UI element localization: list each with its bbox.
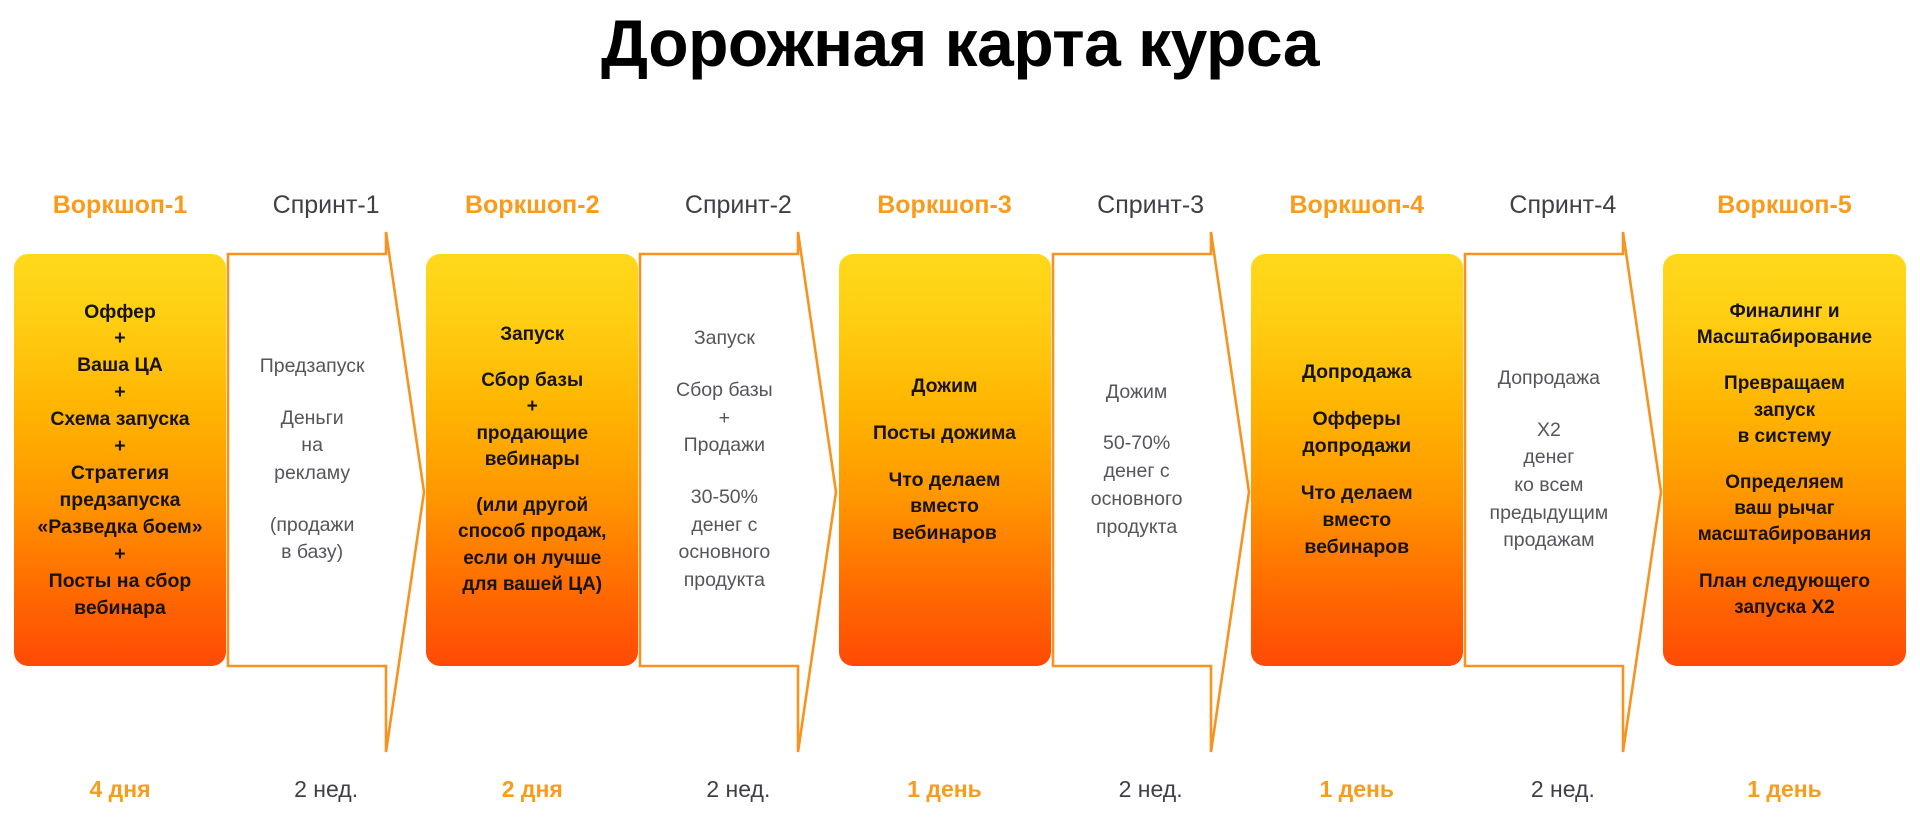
stage-column-sprint-2: Спринт-2 Запуск Сбор базы + Продажи 30-5… [638, 178, 838, 828]
stage-header-workshop-5: Воркшоп-5 [1717, 178, 1852, 232]
card-text-block: Превращаем запуск в систему [1724, 371, 1845, 450]
card-text-block: Что делаем вместо вебинаров [889, 467, 1001, 548]
duration-workshop-1: 4 дня [89, 752, 150, 826]
stage-body-sprint-4: Допродажа X2 денег ко всем предыдущим пр… [1463, 232, 1663, 752]
stage-body-sprint-3: Дожим 50-70% денег с основного продукта [1051, 232, 1251, 752]
stage-body-workshop-4: Допродажа Офферы допродажи Что делаем вм… [1251, 232, 1463, 752]
stage-column-sprint-1: Спринт-1 Предзапуск Деньги на рекламу (п… [226, 178, 426, 828]
stage-header-sprint-2: Спринт-2 [685, 178, 792, 232]
stage-header-sprint-4: Спринт-4 [1509, 178, 1616, 232]
sprint-arrow-3[interactable]: Дожим 50-70% денег с основного продукта [1051, 232, 1251, 752]
arrow-text-block: Предзапуск [260, 353, 365, 381]
card-text-block: Запуск [500, 322, 564, 348]
stage-header-sprint-3: Спринт-3 [1097, 178, 1204, 232]
arrow-text-block: Деньги на рекламу [274, 405, 350, 488]
workshop-card-2[interactable]: Запуск Сбор базы + продающие вебинары (и… [426, 254, 638, 666]
sprint-arrow-1[interactable]: Предзапуск Деньги на рекламу (продажи в … [226, 232, 426, 752]
sprint-arrow-2[interactable]: Запуск Сбор базы + Продажи 30-50% денег … [638, 232, 838, 752]
stage-header-workshop-3: Воркшоп-3 [877, 178, 1012, 232]
stage-body-workshop-1: Оффер + Ваша ЦА + Схема запуска + Страте… [14, 232, 226, 752]
stage-header-workshop-2: Воркшоп-2 [465, 178, 600, 232]
sprint-arrow-content-2: Запуск Сбор базы + Продажи 30-50% денег … [644, 254, 804, 666]
card-text-block: План следующего запуска X2 [1699, 569, 1870, 621]
stage-column-workshop-2: Воркшоп-2 Запуск Сбор базы + продающие в… [426, 178, 638, 828]
stage-body-sprint-1: Предзапуск Деньги на рекламу (продажи в … [226, 232, 426, 752]
stage-header-workshop-4: Воркшоп-4 [1289, 178, 1424, 232]
stage-column-sprint-3: Спринт-3 Дожим 50-70% денег с основного … [1051, 178, 1251, 828]
stage-column-workshop-1: Воркшоп-1 Оффер + Ваша ЦА + Схема запуск… [14, 178, 226, 828]
stage-column-workshop-4: Воркшоп-4 Допродажа Офферы допродажи Что… [1251, 178, 1463, 828]
card-text-block: (или другой способ продаж, если он лучше… [458, 493, 606, 598]
card-text-block: Дожим [911, 373, 977, 400]
duration-workshop-3: 1 день [907, 752, 982, 826]
page-title: Дорожная карта курса [0, 4, 1920, 83]
sprint-arrow-content-1: Предзапуск Деньги на рекламу (продажи в … [232, 254, 392, 666]
workshop-card-3[interactable]: Дожим Посты дожима Что делаем вместо веб… [839, 254, 1051, 666]
roadmap-page: Дорожная карта курса Воркшоп-1 Оффер + В… [0, 0, 1920, 833]
duration-workshop-2: 2 дня [502, 752, 563, 826]
card-text-block: Определяем ваш рычаг масштабирования [1698, 470, 1872, 549]
card-text-block: Посты дожима [873, 420, 1016, 447]
arrow-text-block: 50-70% денег с основного продукта [1091, 430, 1183, 541]
workshop-card-1[interactable]: Оффер + Ваша ЦА + Схема запуска + Страте… [14, 254, 226, 666]
stage-body-workshop-2: Запуск Сбор базы + продающие вебинары (и… [426, 232, 638, 752]
roadmap-track: Воркшоп-1 Оффер + Ваша ЦА + Схема запуск… [0, 178, 1920, 828]
arrow-text-block: Допродажа [1498, 365, 1600, 393]
card-text-block: Допродажа [1302, 359, 1412, 386]
arrow-text-block: 30-50% денег с основного продукта [679, 484, 771, 595]
duration-workshop-5: 1 день [1747, 752, 1822, 826]
card-text-block: Оффер + Ваша ЦА + Схема запуска + Страте… [37, 299, 202, 622]
stage-column-workshop-5: Воркшоп-5 Финалинг и Масштабирование Пре… [1663, 178, 1906, 828]
stage-column-workshop-3: Воркшоп-3 Дожим Посты дожима Что делаем … [839, 178, 1051, 828]
duration-sprint-1: 2 нед. [294, 752, 358, 826]
sprint-arrow-4[interactable]: Допродажа X2 денег ко всем предыдущим пр… [1463, 232, 1663, 752]
card-text-block: Финалинг и Масштабирование [1697, 299, 1872, 351]
stage-body-workshop-5: Финалинг и Масштабирование Превращаем за… [1663, 232, 1906, 752]
stage-header-workshop-1: Воркшоп-1 [53, 178, 188, 232]
stage-header-sprint-1: Спринт-1 [273, 178, 380, 232]
arrow-text-block: X2 денег ко всем предыдущим продажам [1490, 417, 1609, 555]
workshop-card-5[interactable]: Финалинг и Масштабирование Превращаем за… [1663, 254, 1906, 666]
card-text-block: Что делаем вместо вебинаров [1301, 480, 1413, 561]
duration-workshop-4: 1 день [1319, 752, 1394, 826]
duration-sprint-2: 2 нед. [706, 752, 770, 826]
arrow-text-block: Дожим [1106, 379, 1167, 407]
sprint-arrow-content-4: Допродажа X2 денег ко всем предыдущим пр… [1469, 254, 1629, 666]
arrow-text-block: Сбор базы + Продажи [676, 377, 773, 460]
workshop-card-4[interactable]: Допродажа Офферы допродажи Что делаем вм… [1251, 254, 1463, 666]
arrow-text-block: Запуск [694, 325, 755, 353]
duration-sprint-4: 2 нед. [1531, 752, 1595, 826]
stage-body-workshop-3: Дожим Посты дожима Что делаем вместо веб… [839, 232, 1051, 752]
card-text-block: Сбор базы + продающие вебинары [476, 368, 588, 473]
sprint-arrow-content-3: Дожим 50-70% денег с основного продукта [1057, 254, 1217, 666]
stage-column-sprint-4: Спринт-4 Допродажа X2 денег ко всем пред… [1463, 178, 1663, 828]
arrow-text-block: (продажи в базу) [270, 512, 354, 567]
duration-sprint-3: 2 нед. [1119, 752, 1183, 826]
card-text-block: Офферы допродажи [1302, 406, 1411, 460]
stage-body-sprint-2: Запуск Сбор базы + Продажи 30-50% денег … [638, 232, 838, 752]
